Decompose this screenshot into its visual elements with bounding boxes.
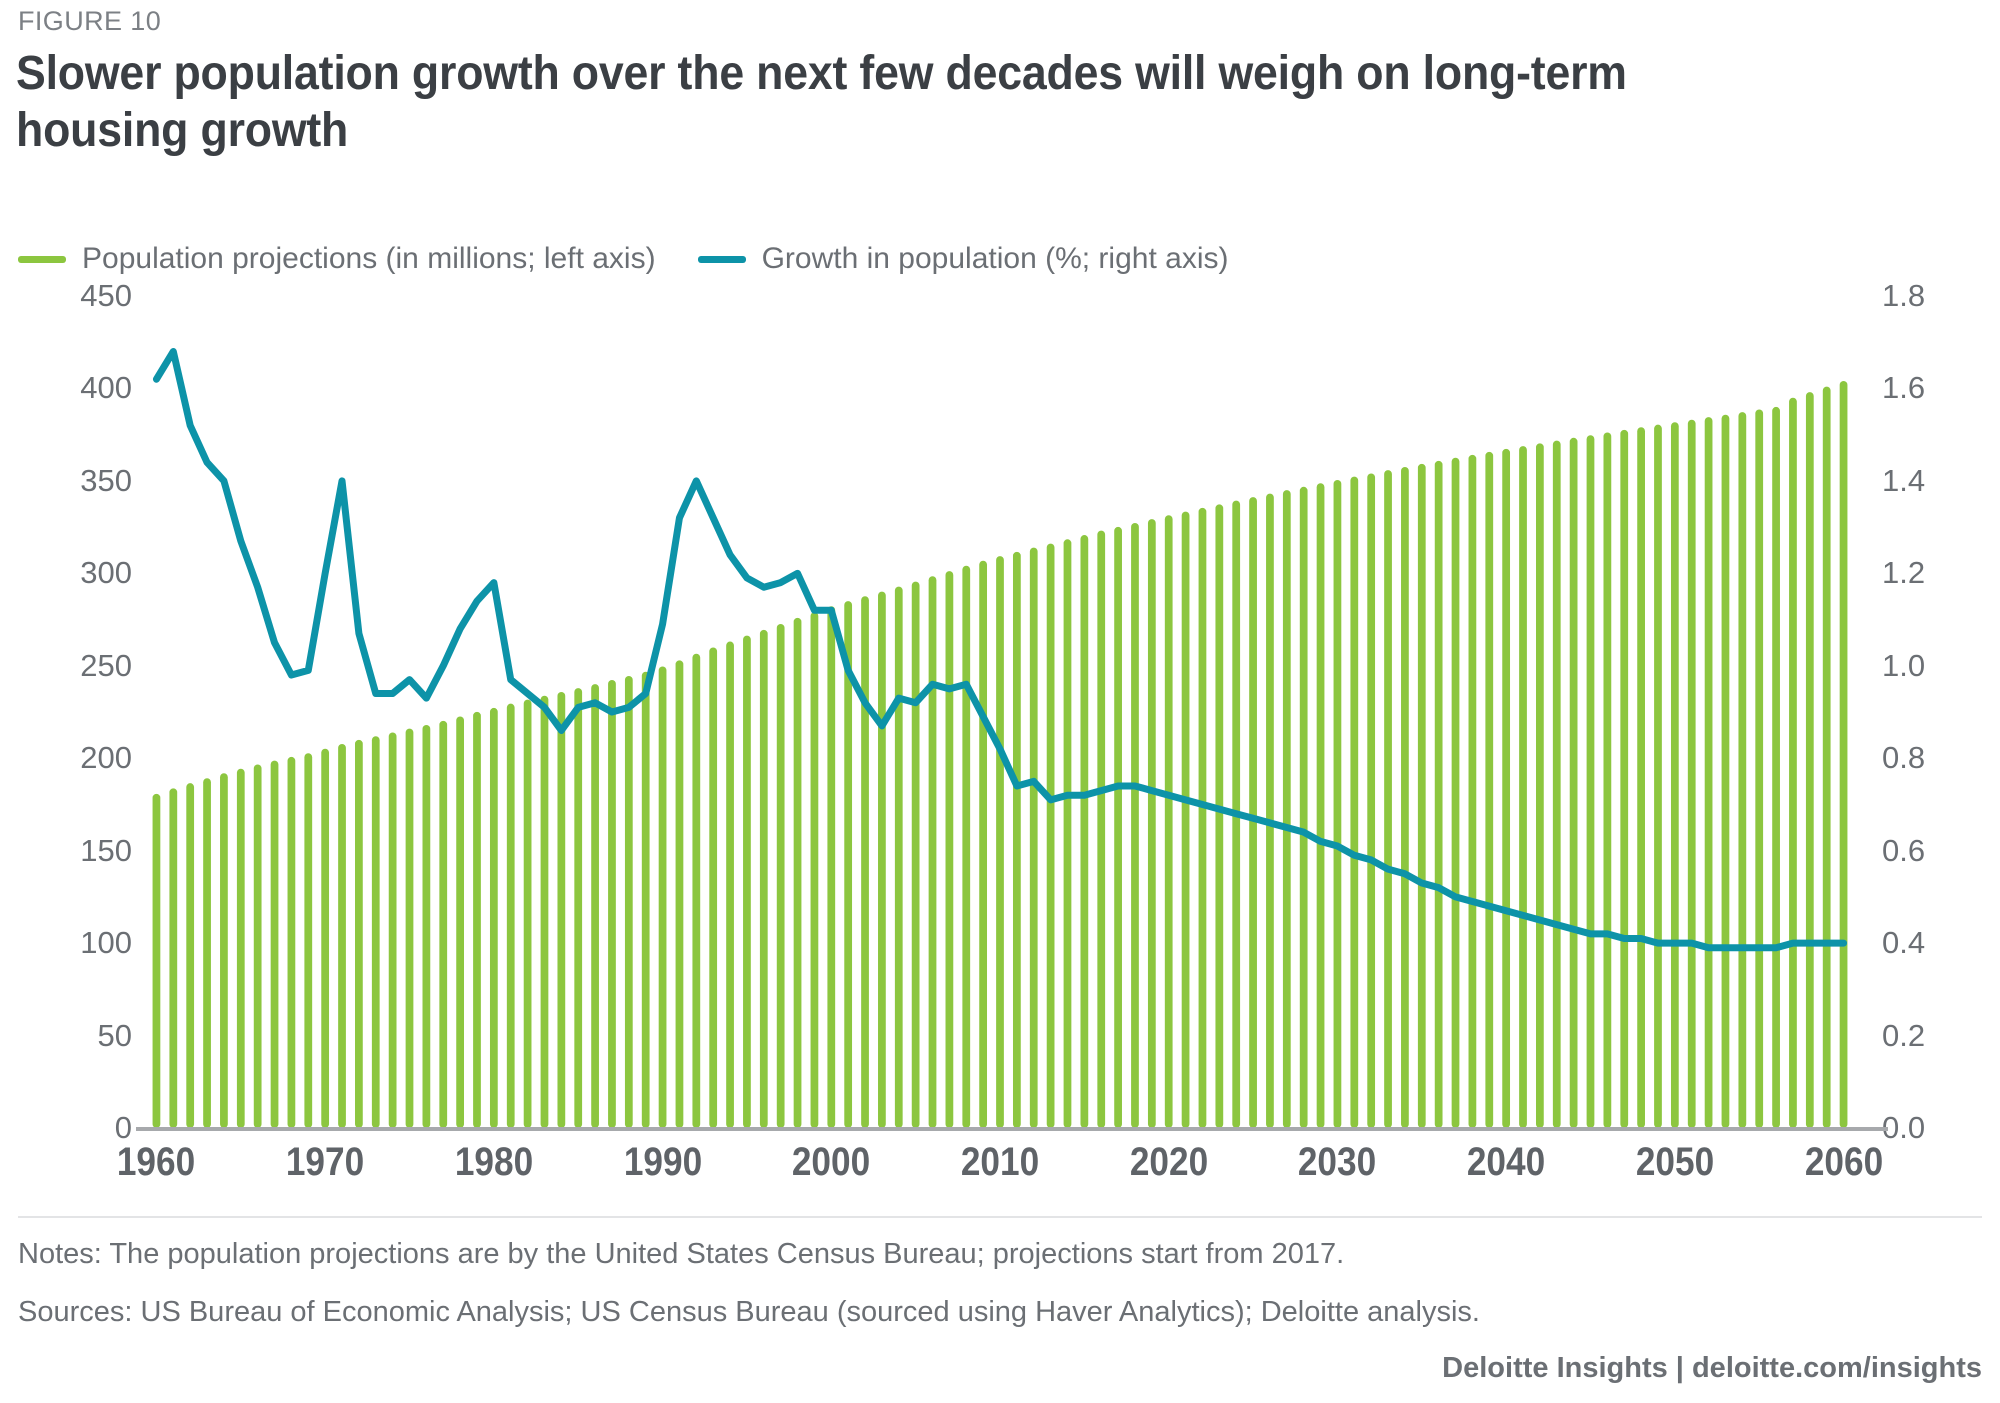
- bar: [1300, 487, 1308, 1128]
- bar: [1570, 438, 1578, 1128]
- chart-sources: Sources: US Bureau of Economic Analysis;…: [18, 1296, 1480, 1329]
- bar: [1047, 544, 1055, 1128]
- bar: [912, 582, 920, 1128]
- bar: [1705, 417, 1713, 1128]
- bar: [220, 773, 228, 1128]
- y-tick-label: 1.4: [1882, 465, 1925, 496]
- bar: [541, 696, 549, 1128]
- bar: [1502, 449, 1510, 1128]
- bar: [1755, 410, 1763, 1128]
- bar: [1806, 392, 1814, 1128]
- bar: [507, 704, 515, 1128]
- bar: [423, 725, 431, 1128]
- bar: [237, 769, 245, 1128]
- bar: [456, 716, 464, 1128]
- bar: [794, 618, 802, 1128]
- x-tick-label: 2000: [792, 1140, 870, 1185]
- bar: [439, 721, 447, 1128]
- bar: [1350, 477, 1358, 1128]
- y-tick-label: 0.4: [1882, 927, 1925, 958]
- y-tick-label: 1.0: [1882, 650, 1925, 681]
- y-tick-label: 50: [98, 1020, 132, 1051]
- x-tick-label: 2030: [1298, 1140, 1376, 1185]
- bar: [406, 729, 414, 1128]
- bar: [1064, 539, 1072, 1128]
- x-tick-label: 2060: [1804, 1140, 1882, 1185]
- bar: [1283, 490, 1291, 1128]
- bar: [709, 647, 717, 1128]
- bar: [1671, 422, 1679, 1128]
- y-tick-label: 250: [80, 650, 132, 681]
- bar: [811, 612, 819, 1128]
- bar: [1519, 446, 1527, 1128]
- y-tick-label: 0.6: [1882, 835, 1925, 866]
- bar: [692, 654, 700, 1128]
- bar: [1097, 531, 1105, 1128]
- bar: [726, 642, 734, 1128]
- x-axis: 1960197019801990200020102020203020402050…: [18, 1140, 1982, 1196]
- bar: [1587, 435, 1595, 1128]
- bar: [878, 592, 886, 1128]
- bar: [591, 684, 599, 1128]
- x-axis-baseline: [136, 1127, 1888, 1131]
- bar: [490, 708, 498, 1128]
- bar: [1148, 519, 1156, 1128]
- bar: [574, 688, 582, 1128]
- bar: [372, 736, 380, 1128]
- y-tick-label: 150: [80, 835, 132, 866]
- bar: [254, 765, 262, 1128]
- x-tick-label: 1970: [286, 1140, 364, 1185]
- bar: [1722, 415, 1730, 1128]
- x-tick-label: 1990: [623, 1140, 701, 1185]
- legend-item-population: Population projections (in millions; lef…: [18, 242, 656, 276]
- y-axis-right: 1.81.61.41.21.00.80.60.40.20.0: [1852, 296, 1982, 1128]
- bar: [321, 749, 329, 1128]
- bar: [1401, 467, 1409, 1128]
- bar: [557, 692, 565, 1128]
- bar: [153, 794, 161, 1128]
- chart-plot-area: 450400350300250200150100500 1.81.61.41.2…: [18, 296, 1982, 1128]
- bar: [1114, 527, 1122, 1128]
- chart-canvas: [148, 296, 1852, 1128]
- bar: [1654, 425, 1662, 1128]
- x-tick-label: 2050: [1636, 1140, 1714, 1185]
- bar: [1840, 381, 1848, 1128]
- bar: [608, 680, 616, 1128]
- bar: [203, 778, 211, 1128]
- bar: [1435, 461, 1443, 1128]
- y-tick-label: 300: [80, 557, 132, 588]
- deloitte-credit: Deloitte Insights | deloitte.com/insight…: [1442, 1352, 1982, 1385]
- bar: [1367, 473, 1375, 1128]
- bar: [1030, 548, 1038, 1128]
- y-tick-label: 400: [80, 372, 132, 403]
- bar: [1485, 452, 1493, 1128]
- bar: [389, 733, 397, 1128]
- bar: [1789, 398, 1797, 1128]
- y-tick-label: 1.6: [1882, 372, 1925, 403]
- bar: [473, 712, 481, 1128]
- y-tick-label: 450: [80, 280, 132, 311]
- bar: [1384, 470, 1392, 1128]
- y-tick-label: 0: [115, 1112, 132, 1143]
- bar: [861, 596, 869, 1128]
- bar: [1199, 508, 1207, 1128]
- bar: [625, 676, 633, 1128]
- bar: [1823, 387, 1831, 1128]
- bar: [524, 700, 532, 1128]
- legend-item-growth: Growth in population (%; right axis): [698, 242, 1229, 276]
- bar: [1536, 443, 1544, 1128]
- bar: [1772, 407, 1780, 1128]
- bar: [1620, 430, 1628, 1128]
- bar: [1738, 412, 1746, 1128]
- bar: [1317, 483, 1325, 1128]
- bar: [659, 667, 667, 1128]
- bar: [1165, 515, 1173, 1128]
- bar: [979, 561, 987, 1128]
- chart-svg: [148, 296, 1852, 1128]
- bar: [1603, 432, 1611, 1128]
- bar: [962, 566, 970, 1128]
- bar: [169, 788, 177, 1128]
- y-tick-label: 0.0: [1882, 1112, 1925, 1143]
- y-axis-left: 450400350300250200150100500: [18, 296, 148, 1128]
- x-tick-label: 2040: [1467, 1140, 1545, 1185]
- bar: [1013, 552, 1021, 1128]
- figure-root: FIGURE 10 Slower population growth over …: [0, 0, 2000, 1403]
- bar: [186, 783, 194, 1128]
- legend-label-growth: Growth in population (%; right axis): [762, 242, 1229, 276]
- page-title: Slower population growth over the next f…: [16, 46, 1783, 159]
- chart-notes: Notes: The population projections are by…: [18, 1238, 1344, 1271]
- y-tick-label: 0.2: [1882, 1020, 1925, 1051]
- y-tick-label: 200: [80, 742, 132, 773]
- bar: [996, 556, 1004, 1128]
- x-tick-label: 2010: [961, 1140, 1039, 1185]
- bar: [777, 624, 785, 1128]
- bar: [1182, 512, 1190, 1128]
- x-tick-label: 1960: [117, 1140, 195, 1185]
- y-tick-label: 100: [80, 927, 132, 958]
- bar: [642, 672, 650, 1128]
- bar: [1688, 420, 1696, 1128]
- bar: [676, 660, 684, 1128]
- legend-label-population: Population projections (in millions; lef…: [82, 242, 656, 276]
- x-tick-label: 2020: [1130, 1140, 1208, 1185]
- bar: [946, 571, 954, 1128]
- bar: [338, 744, 346, 1128]
- bar: [743, 636, 751, 1128]
- bar: [288, 757, 296, 1128]
- legend-line-swatch-growth: [698, 256, 746, 263]
- bar: [827, 606, 835, 1128]
- chart-legend: Population projections (in millions; lef…: [18, 242, 1228, 276]
- bar: [895, 587, 903, 1128]
- bar: [1215, 504, 1223, 1128]
- bar: [1637, 427, 1645, 1128]
- bar: [271, 761, 279, 1128]
- bar: [1469, 455, 1477, 1128]
- y-tick-label: 0.8: [1882, 742, 1925, 773]
- bar: [929, 576, 937, 1128]
- x-tick-label: 1980: [455, 1140, 533, 1185]
- bar: [1334, 480, 1342, 1128]
- bar: [304, 753, 312, 1128]
- bar: [1452, 458, 1460, 1128]
- bar: [1418, 464, 1426, 1128]
- bar: [760, 630, 768, 1128]
- footer-divider: [18, 1216, 1982, 1218]
- y-tick-label: 1.2: [1882, 557, 1925, 588]
- figure-label: FIGURE 10: [18, 6, 161, 37]
- bar: [1266, 494, 1274, 1128]
- y-tick-label: 1.8: [1882, 280, 1925, 311]
- bar: [1553, 441, 1561, 1128]
- bar: [355, 740, 363, 1128]
- bar: [1131, 523, 1139, 1128]
- legend-line-swatch-population: [18, 256, 66, 263]
- y-tick-label: 350: [80, 465, 132, 496]
- bar: [1080, 535, 1088, 1128]
- bar: [1249, 497, 1257, 1128]
